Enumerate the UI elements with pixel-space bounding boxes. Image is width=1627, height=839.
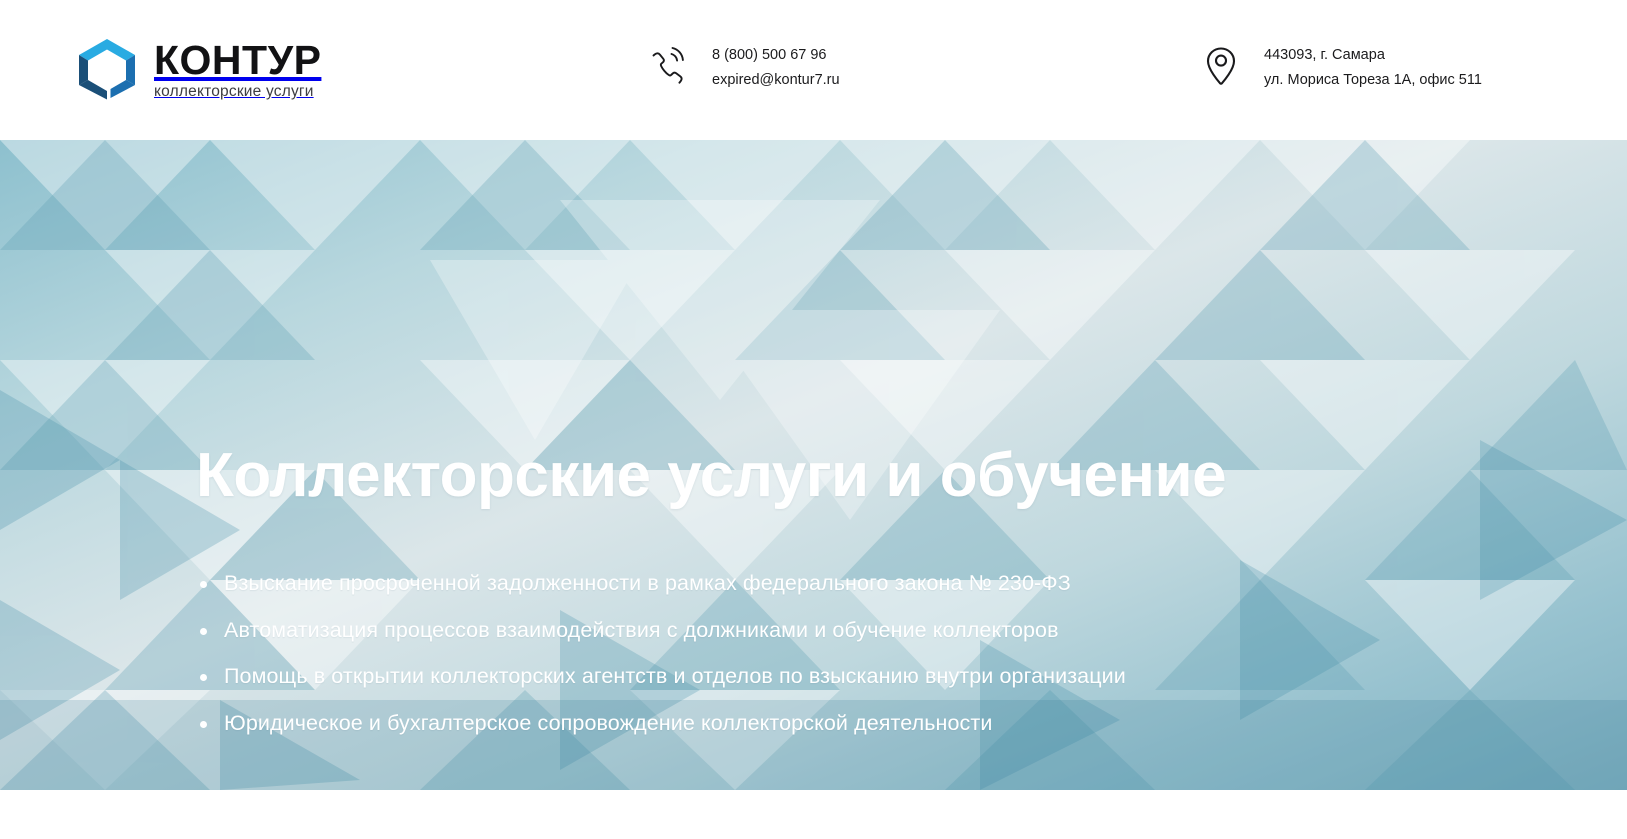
- contact-address-block[interactable]: 443093, г. Самара ул. Мориса Тореза 1А, …: [1200, 44, 1482, 92]
- page-title: Коллекторские услуги и обучение: [196, 443, 1226, 508]
- hero-benefits-list: Взыскание просроченной задолженности в р…: [196, 570, 1126, 737]
- hero-section: Коллекторские услуги и обучение Взыскани…: [0, 140, 1627, 790]
- address-lines: 443093, г. Самара ул. Мориса Тореза 1А, …: [1264, 46, 1482, 90]
- site-header: КОНТУР коллекторские услуги 8 (800) 500 …: [0, 0, 1627, 140]
- phone-ringing-icon: [648, 44, 690, 92]
- site-logo[interactable]: КОНТУР коллекторские услуги: [74, 36, 321, 102]
- footer-strip: [0, 790, 1627, 839]
- email-address[interactable]: expired@kontur7.ru: [712, 71, 840, 91]
- logo-wordmark: КОНТУР: [154, 40, 321, 80]
- map-pin-icon: [1200, 44, 1242, 92]
- list-item: Помощь в открытии коллекторских агентств…: [196, 663, 1126, 691]
- address-street: ул. Мориса Тореза 1А, офис 511: [1264, 71, 1482, 91]
- landing-page: КОНТУР коллекторские услуги 8 (800) 500 …: [0, 0, 1627, 839]
- phone-number[interactable]: 8 (800) 500 67 96: [712, 46, 840, 66]
- logo-text: КОНТУР коллекторские услуги: [154, 38, 321, 100]
- contact-phone-block[interactable]: 8 (800) 500 67 96 expired@kontur7.ru: [648, 44, 840, 92]
- kontur-hexagon-logo-icon: [74, 36, 140, 102]
- list-item: Юридическое и бухгалтерское сопровождени…: [196, 710, 1126, 738]
- phone-lines: 8 (800) 500 67 96 expired@kontur7.ru: [712, 46, 840, 90]
- address-city: 443093, г. Самара: [1264, 46, 1482, 66]
- hero-content: Коллекторские услуги и обучение Взыскани…: [0, 140, 1627, 790]
- list-item: Взыскание просроченной задолженности в р…: [196, 570, 1126, 598]
- logo-tagline: коллекторские услуги: [154, 83, 321, 100]
- list-item: Автоматизация процессов взаимодействия с…: [196, 617, 1126, 645]
